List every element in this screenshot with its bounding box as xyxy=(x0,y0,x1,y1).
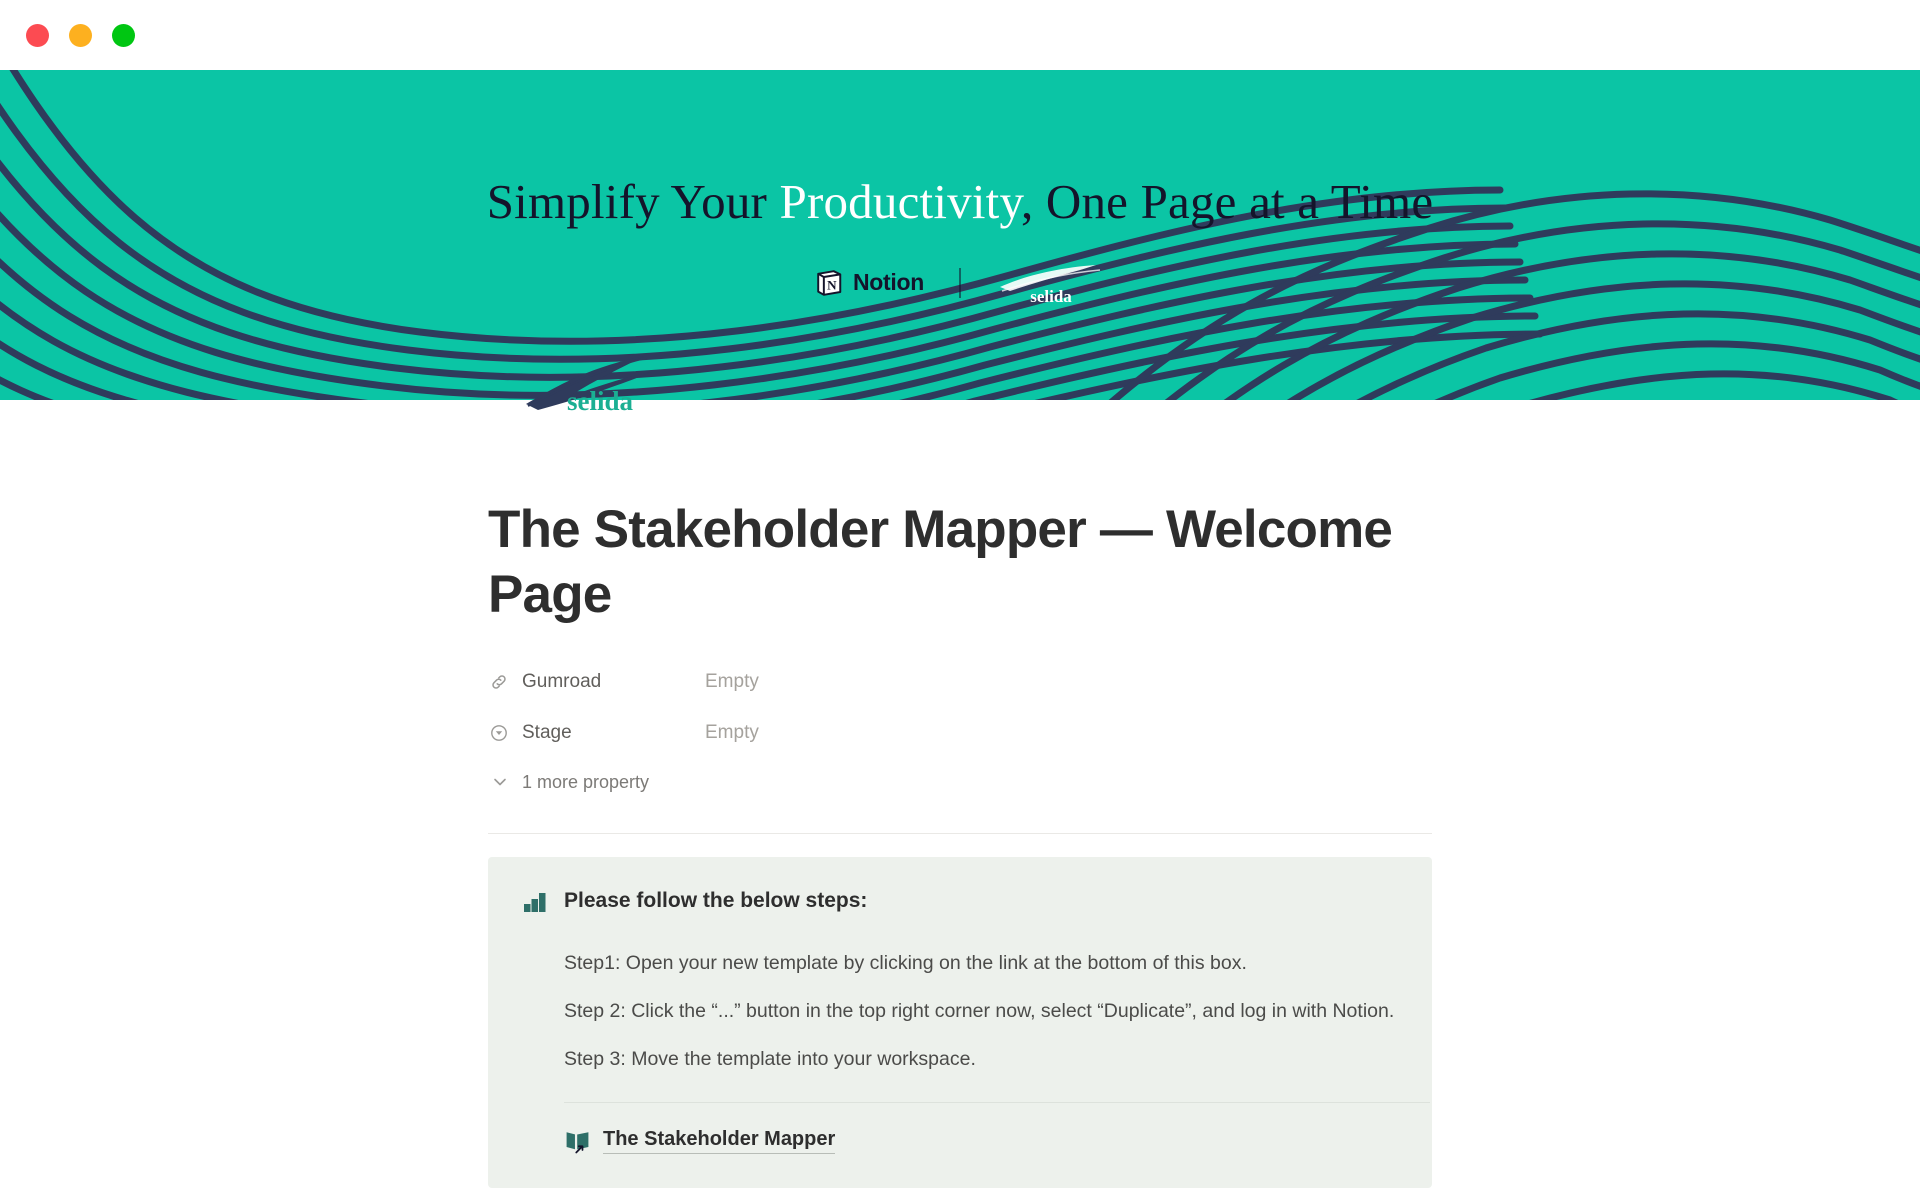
steps-callout: Please follow the below steps: Step1: Op… xyxy=(488,857,1432,1188)
stakeholder-mapper-link[interactable]: The Stakeholder Mapper xyxy=(603,1128,835,1154)
more-properties-label: 1 more property xyxy=(522,772,649,793)
content-divider xyxy=(488,833,1432,834)
window-controls xyxy=(0,24,135,47)
property-row-gumroad[interactable]: Gumroad Empty xyxy=(488,663,1434,700)
callout-steps-list: Step1: Open your new template by clickin… xyxy=(522,948,1398,1075)
callout-inner-divider xyxy=(564,1102,1430,1103)
more-properties-toggle[interactable]: 1 more property xyxy=(488,765,1434,799)
banner-headline-highlight: Productivity xyxy=(780,174,1022,229)
property-name-gumroad: Gumroad xyxy=(522,671,682,693)
property-value-gumroad[interactable]: Empty xyxy=(705,671,759,693)
close-window-button[interactable] xyxy=(26,24,49,47)
minimize-window-button[interactable] xyxy=(69,24,92,47)
callout-header: Please follow the below steps: xyxy=(522,887,1398,915)
svg-text:N: N xyxy=(827,277,837,292)
notion-lockup: N Notion xyxy=(814,268,924,298)
property-name-stage: Stage xyxy=(522,722,682,744)
callout-step-2: Step 2: Click the “...” button in the to… xyxy=(564,996,1398,1026)
banner-headline-prefix: Simplify Your xyxy=(487,174,780,229)
window-title-bar xyxy=(0,0,1920,70)
hero-banner: Simplify Your Productivity, One Page at … xyxy=(0,70,1920,400)
svg-text:selida: selida xyxy=(1030,287,1072,305)
open-book-emoji xyxy=(564,1127,591,1154)
page-properties: Gumroad Empty Stage Empty 1 more propert… xyxy=(488,663,1434,799)
selida-white-logo: selida xyxy=(996,261,1106,305)
page-title: The Stakeholder Mapper — Welcome Page xyxy=(488,497,1398,627)
callout-link-row[interactable]: The Stakeholder Mapper xyxy=(522,1127,1398,1154)
select-icon xyxy=(488,722,510,744)
property-row-stage[interactable]: Stage Empty xyxy=(488,714,1434,751)
callout-title: Please follow the below steps: xyxy=(564,887,867,915)
callout-step-3: Step 3: Move the template into your work… xyxy=(564,1044,1398,1074)
page-content: The Stakeholder Mapper — Welcome Page Gu… xyxy=(0,400,1920,1188)
bar-chart-emoji xyxy=(522,889,548,915)
maximize-window-button[interactable] xyxy=(112,24,135,47)
banner-headline-suffix: , One Page at a Time xyxy=(1021,174,1433,229)
logo-separator xyxy=(959,268,961,298)
notion-wordmark: Notion xyxy=(853,269,924,296)
chevron-down-icon xyxy=(488,770,512,794)
callout-step-1: Step1: Open your new template by clickin… xyxy=(564,948,1398,978)
notion-logo-icon: N xyxy=(814,268,844,298)
banner-logo-lockups: N Notion selida xyxy=(814,261,1106,305)
banner-headline: Simplify Your Productivity, One Page at … xyxy=(487,175,1434,229)
link-icon xyxy=(488,671,510,693)
property-value-stage[interactable]: Empty xyxy=(705,722,759,744)
